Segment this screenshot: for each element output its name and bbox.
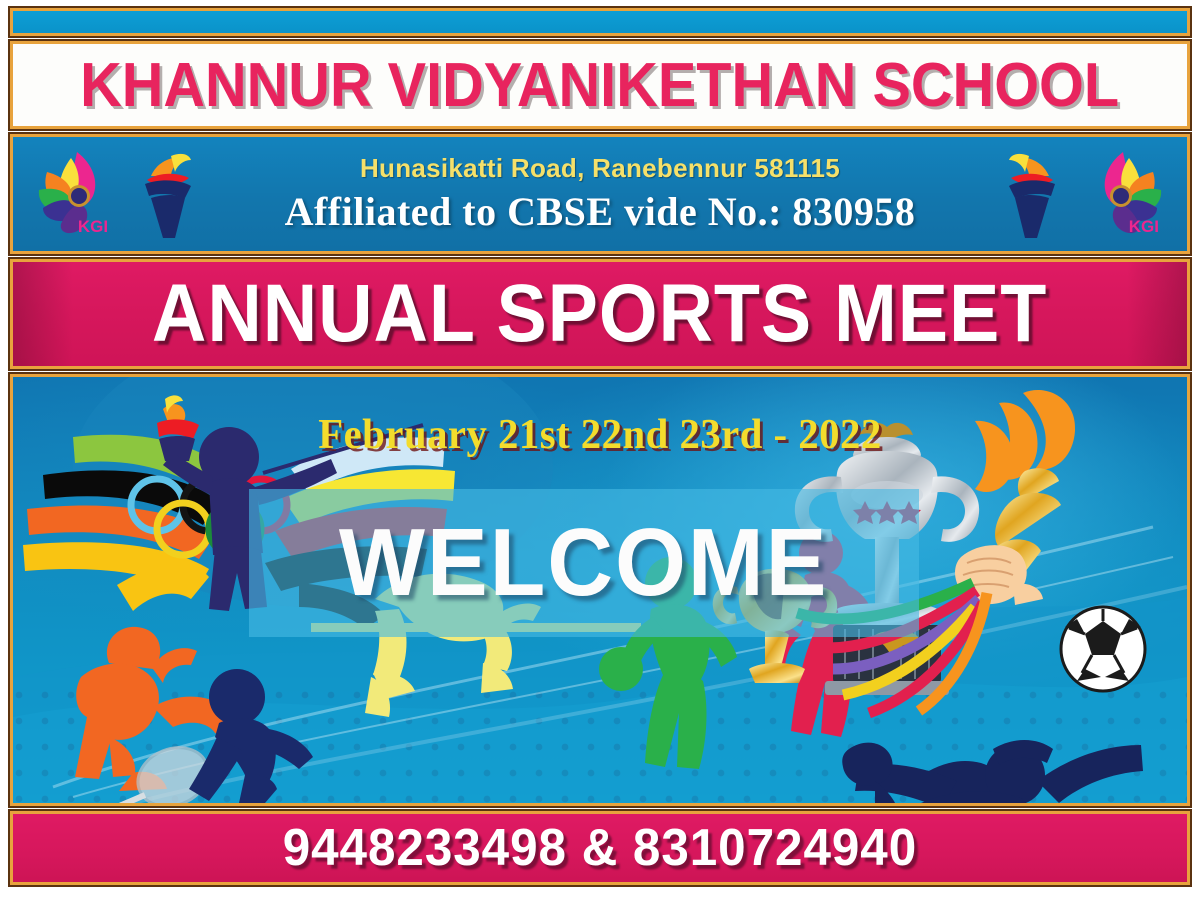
sports-artwork: February 21st 22nd 23rd - 2022 WELCOME <box>13 377 1187 803</box>
event-title-band: ANNUAL SPORTS MEET <box>10 259 1190 369</box>
address-text-group: Hunasikatti Road, Ranebennur 581115 Affi… <box>13 153 1187 235</box>
phone-numbers: 9448233498 & 8310724940 <box>283 818 917 878</box>
sports-meet-banner: KHANNUR VIDYANIKETHAN SCHOOL KGI <box>0 0 1200 900</box>
school-address: Hunasikatti Road, Ranebennur 581115 <box>13 153 1187 184</box>
cbse-affiliation: Affiliated to CBSE vide No.: 830958 <box>13 188 1187 235</box>
soccer-ball-icon <box>1061 607 1145 691</box>
welcome-text: WELCOME <box>339 508 829 618</box>
school-name-band: KHANNUR VIDYANIKETHAN SCHOOL <box>10 41 1190 129</box>
contact-phone-band: 9448233498 & 8310724940 <box>10 811 1190 885</box>
top-decorative-strip <box>10 8 1190 36</box>
school-name: KHANNUR VIDYANIKETHAN SCHOOL <box>80 50 1119 121</box>
event-dates: February 21st 22nd 23rd - 2022 <box>31 411 1170 459</box>
school-address-band: KGI Hunasikatti Road, Ranebennur 581115 … <box>10 134 1190 254</box>
welcome-band: WELCOME <box>249 489 919 637</box>
event-title: ANNUAL SPORTS MEET <box>152 267 1047 361</box>
main-artwork-band: February 21st 22nd 23rd - 2022 WELCOME <box>10 374 1190 806</box>
